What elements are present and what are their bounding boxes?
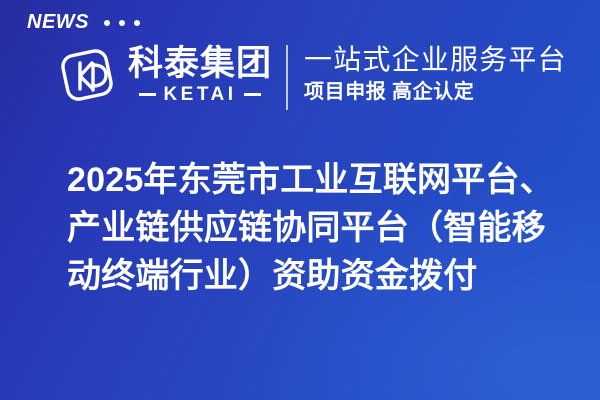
ketai-kd-monogram-icon	[58, 44, 116, 106]
tagline-primary: 一站式企业服务平台	[304, 43, 567, 76]
news-banner: NEWS 科泰集团	[0, 0, 600, 400]
brand-lockup: 科泰集团 KETAI	[58, 44, 272, 106]
brand-name-cn: 科泰集团	[128, 46, 272, 82]
news-dot	[134, 20, 140, 26]
brand-text: 科泰集团 KETAI	[128, 46, 272, 103]
news-dot	[104, 20, 110, 26]
brand-name-en-row: KETAI	[128, 85, 272, 104]
brand-rule-right	[244, 93, 261, 96]
news-dots-decoration	[104, 20, 140, 26]
tagline-block: 一站式企业服务平台 项目申报 高企认定	[304, 43, 567, 104]
brand-name-en: KETAI	[163, 85, 236, 104]
tagline-secondary: 项目申报 高企认定	[304, 80, 567, 104]
news-label: NEWS	[27, 12, 89, 32]
brand-tagline-divider	[286, 45, 288, 110]
page-title: 2025年东莞市工业互联网平台、产业链供应链协同平台（智能移动终端行业）资助资金…	[67, 156, 567, 300]
news-eyebrow: NEWS	[27, 12, 140, 32]
news-dot	[119, 20, 125, 26]
brand-rule-left	[139, 93, 156, 96]
